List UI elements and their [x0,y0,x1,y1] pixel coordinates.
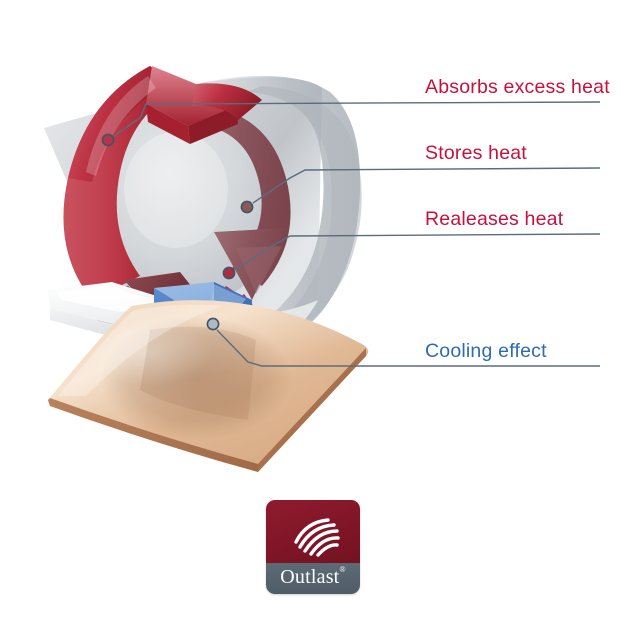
anchor-absorbs [102,134,113,145]
logo-wordmark: Outlast® [280,566,345,589]
callout-label-absorbs-excess-heat: Absorbs excess heat [425,76,610,99]
anchor-cooling [207,318,218,329]
anchor-stores [241,201,252,212]
logo-card: Outlast® [266,500,360,594]
logo-brand-text: Outlast [280,566,339,588]
swoosh-icon [266,500,360,563]
diagram-canvas: Absorbs excess heat Stores heat Realease… [0,0,625,625]
anchor-releases [223,267,234,278]
callout-label-realeases-heat: Realeases heat [425,208,563,231]
logo-bottom-panel: Outlast® [266,563,360,594]
callout-label-cooling-effect: Cooling effect [425,340,547,363]
registered-mark: ® [339,565,345,574]
outlast-logo: Outlast® [266,500,360,594]
callout-label-stores-heat: Stores heat [425,142,527,165]
